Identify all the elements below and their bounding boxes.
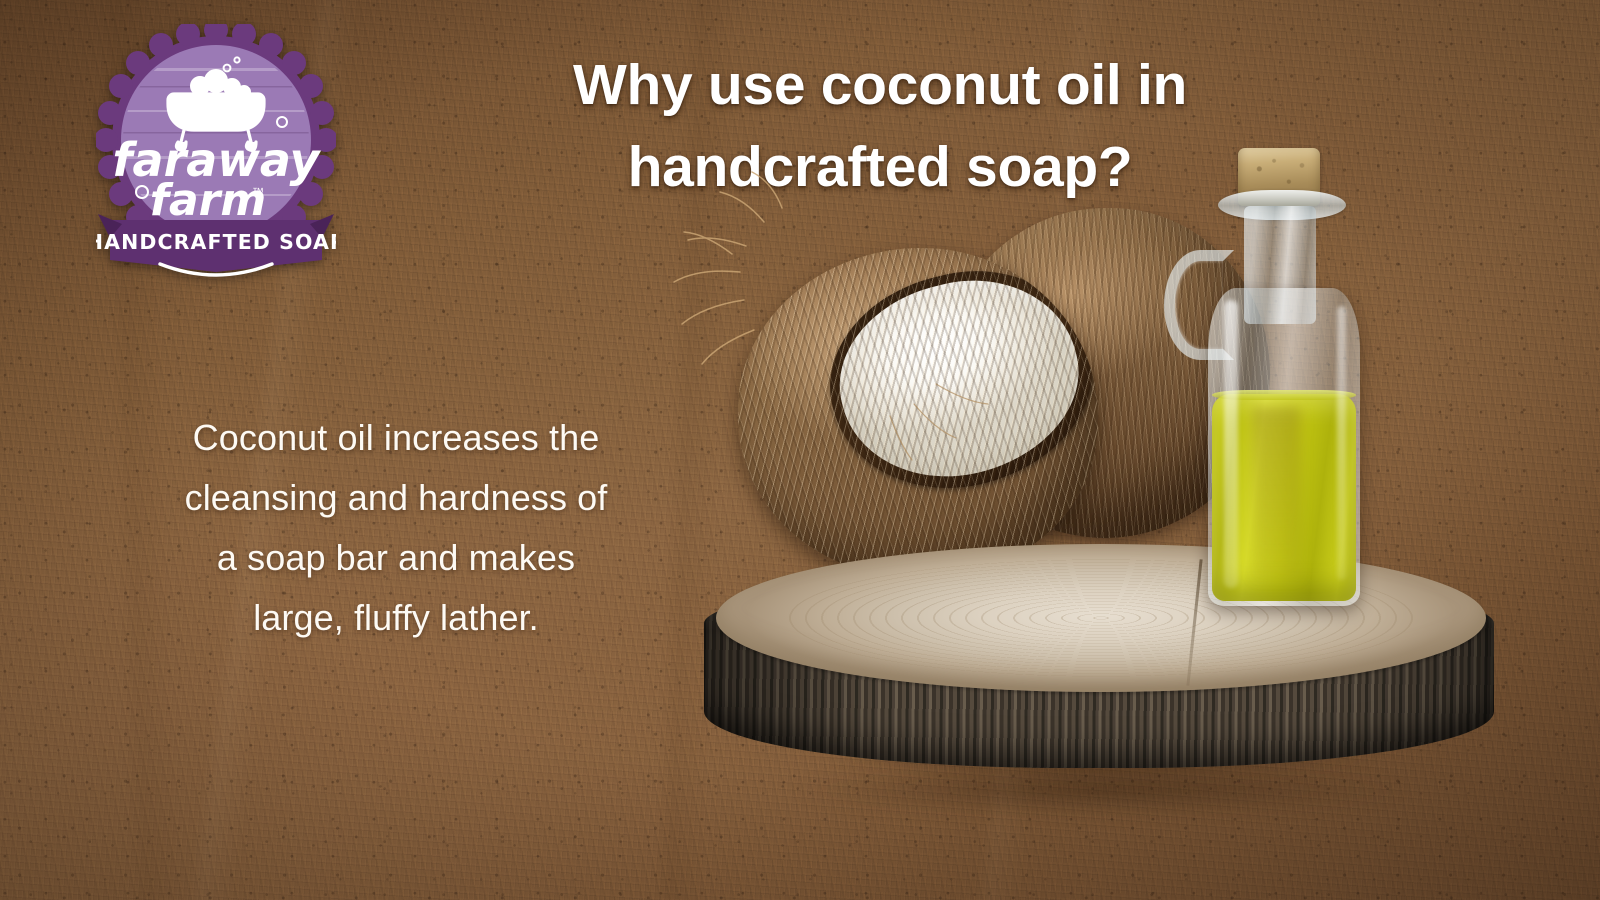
body-copy: Coconut oil increases the cleansing and …: [96, 408, 696, 648]
banner-canvas: faraway farm ™ HANDCRAFTED SOAP Why use …: [0, 0, 1600, 900]
logo-trademark: ™: [252, 185, 264, 199]
bottle-body: [1208, 288, 1360, 606]
headline-line-1: Why use coconut oil in: [573, 53, 1187, 117]
logo-tagline: HANDCRAFTED SOAP: [96, 230, 336, 254]
coconut-half: [738, 248, 1098, 578]
body-line-2: cleansing and hardness of: [96, 468, 696, 528]
glass-highlight-right: [1337, 306, 1346, 580]
oil-cruet-bottle: [1160, 142, 1380, 612]
coconut-shell-rim: [808, 248, 1098, 515]
coconut-flesh: [820, 257, 1098, 500]
faraway-farm-logo[interactable]: faraway farm ™ HANDCRAFTED SOAP: [96, 24, 336, 280]
logo-brand-line2: farm: [150, 175, 266, 226]
body-line-4: large, fluffy lather.: [96, 588, 696, 648]
glass-highlight-left: [1224, 300, 1238, 588]
product-photo: [640, 120, 1560, 810]
body-line-1: Coconut oil increases the: [96, 408, 696, 468]
body-line-3: a soap bar and makes: [96, 528, 696, 588]
